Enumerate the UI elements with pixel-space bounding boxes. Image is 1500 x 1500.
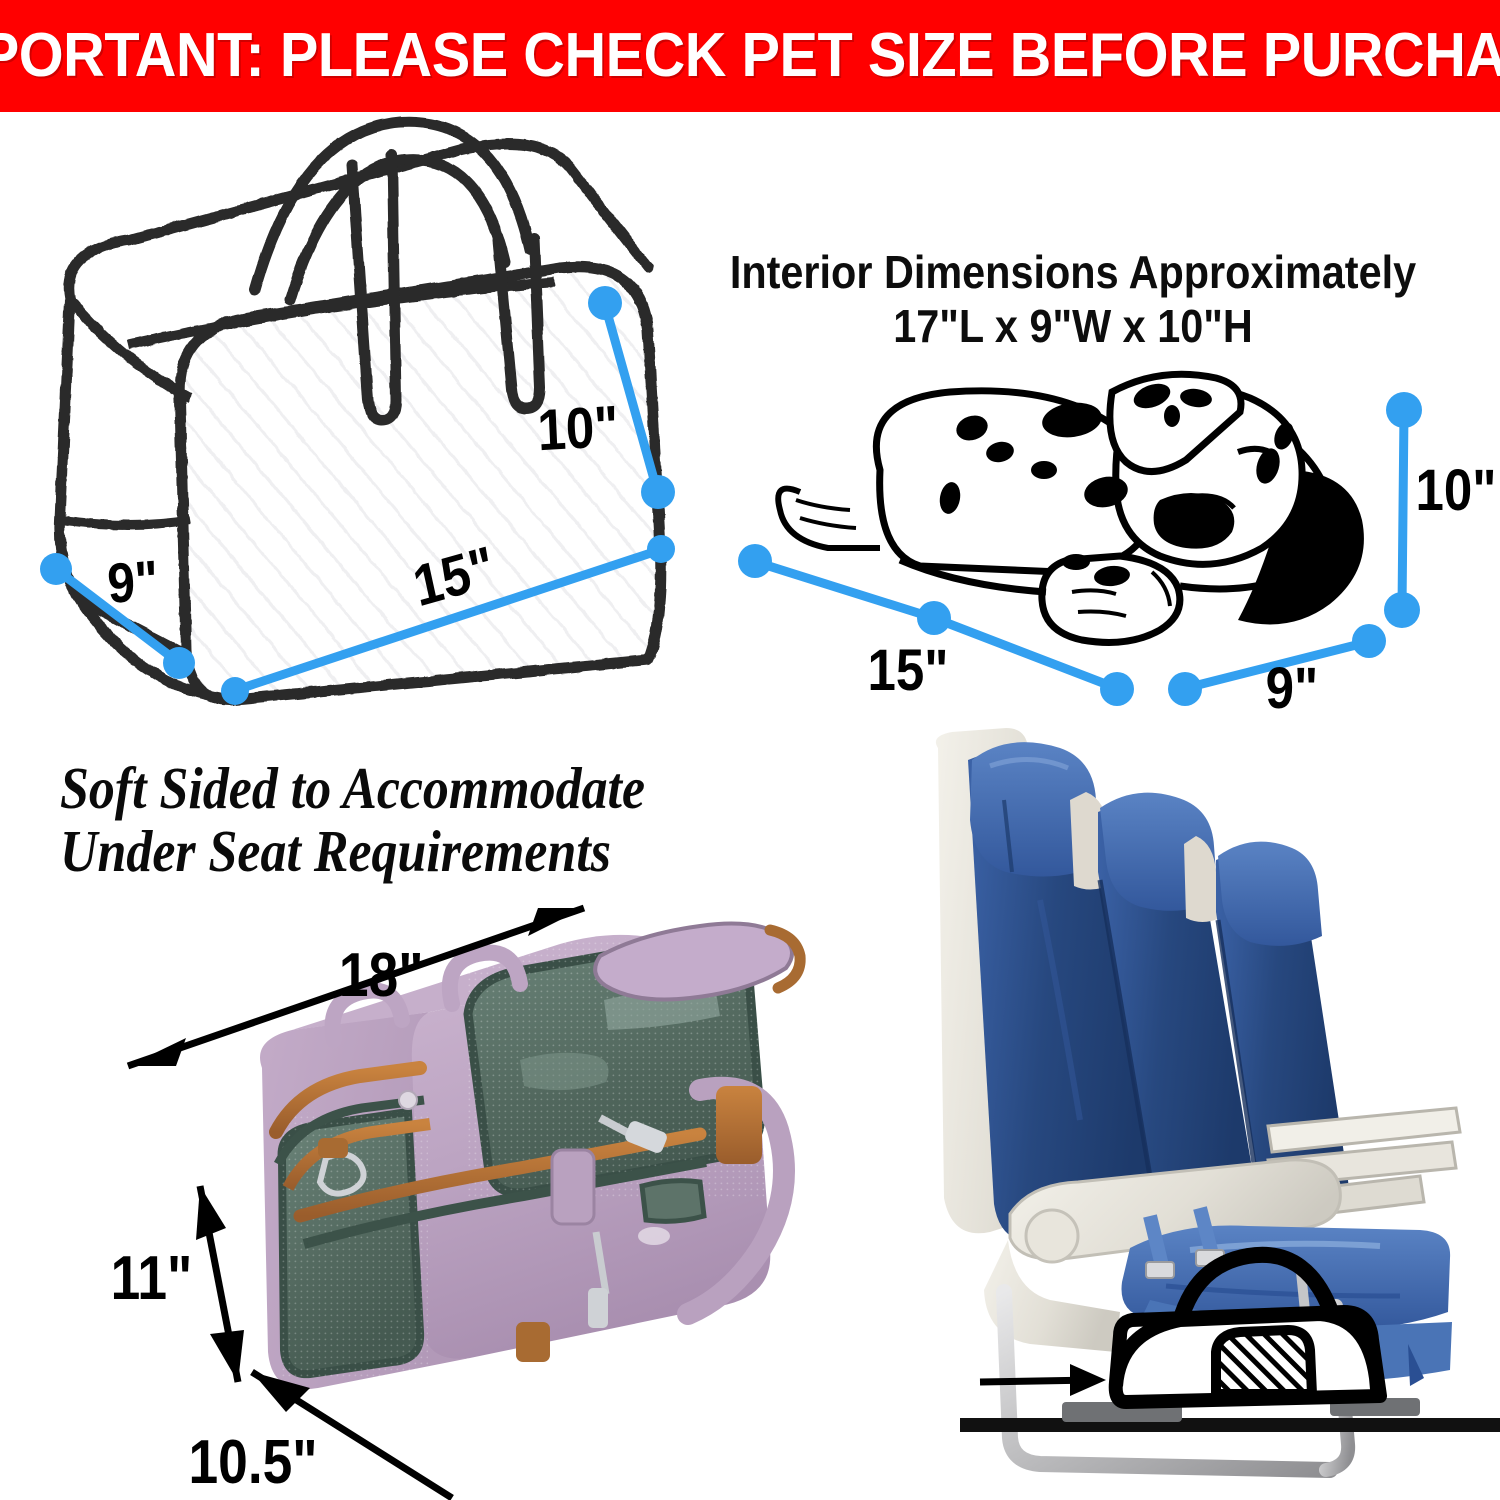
warning-banner-text: IMPORTANT: PLEASE CHECK PET SIZE BEFORE … <box>0 25 1500 87</box>
carrier-dim-height-label: 11" <box>111 1248 193 1310</box>
seat-photo-layer <box>0 0 1500 1500</box>
dog-dim-length-label: 15" <box>868 642 949 700</box>
carrier-photo-layer <box>0 0 1500 1500</box>
bag-dim-height-label: 10" <box>536 398 620 461</box>
infographic-page: IMPORTANT: PLEASE CHECK PET SIZE BEFORE … <box>0 0 1500 1500</box>
interior-dimensions-line1: Interior Dimensions Approximately <box>691 248 1456 298</box>
carrier-dim-depth-label: 10.5" <box>189 1432 318 1494</box>
dog-dimension-lines <box>738 392 1422 706</box>
dalmatian-puppy-drawing <box>778 374 1364 642</box>
warning-banner: IMPORTANT: PLEASE CHECK PET SIZE BEFORE … <box>0 0 1500 112</box>
under-seat-bag-outline <box>980 1255 1380 1402</box>
bag-dim-width-label: 9" <box>106 552 160 612</box>
interior-dimensions-line2: 17"L x 9"W x 10"H <box>691 302 1456 352</box>
soft-sided-line2: Under Seat Requirements <box>60 820 852 883</box>
soft-sided-heading: Soft Sided to Accommodate Under Seat Req… <box>60 757 960 883</box>
bag-dim-length-label: 15" <box>409 538 500 617</box>
airline-seat-drawing <box>936 728 1500 1470</box>
bag-sketch-layer <box>0 0 1500 1500</box>
carrier-dim-length-label: 18" <box>339 945 424 1007</box>
bag-handles-drawing <box>255 122 540 420</box>
dog-sketch-layer <box>0 0 1500 1500</box>
interior-dimensions-block: Interior Dimensions Approximately 17"L x… <box>648 248 1498 351</box>
dog-dim-width-label: 9" <box>1266 660 1319 718</box>
soft-sided-line1: Soft Sided to Accommodate <box>60 757 852 820</box>
dog-dim-height-label: 10" <box>1416 462 1497 520</box>
bag-dimension-lines <box>40 286 675 705</box>
